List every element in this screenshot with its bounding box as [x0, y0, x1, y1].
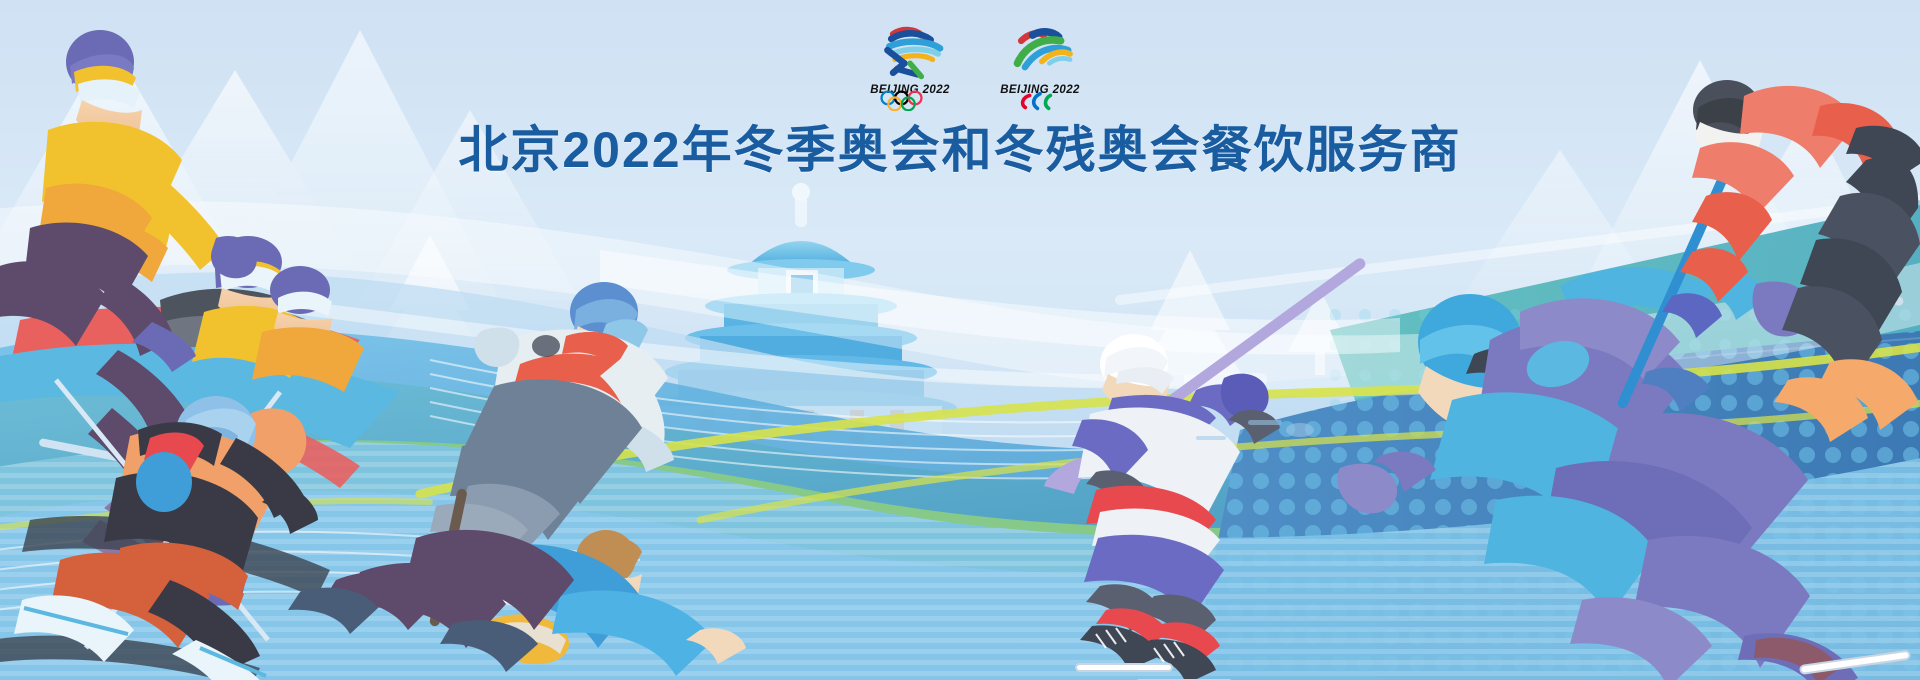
paralympic-agitos	[990, 92, 1090, 116]
beijing-2022-paralympic-emblem: BEIJING 2022	[990, 22, 1090, 118]
ice-hockey-player	[1044, 256, 1368, 680]
paralympic-emblem-mark	[990, 22, 1090, 84]
beijing-2022-olympic-emblem: BEIJING 2022	[860, 22, 960, 118]
cross-country-skier	[0, 380, 330, 680]
emblem-group: BEIJING 2022	[860, 22, 1090, 118]
page-title: 北京2022年冬季奥会和冬残奥会餐饮服务商	[0, 122, 1920, 178]
olympic-rings	[860, 90, 960, 116]
olympics-banner: BEIJING 2022	[0, 0, 1920, 680]
olympic-emblem-mark	[860, 22, 960, 84]
